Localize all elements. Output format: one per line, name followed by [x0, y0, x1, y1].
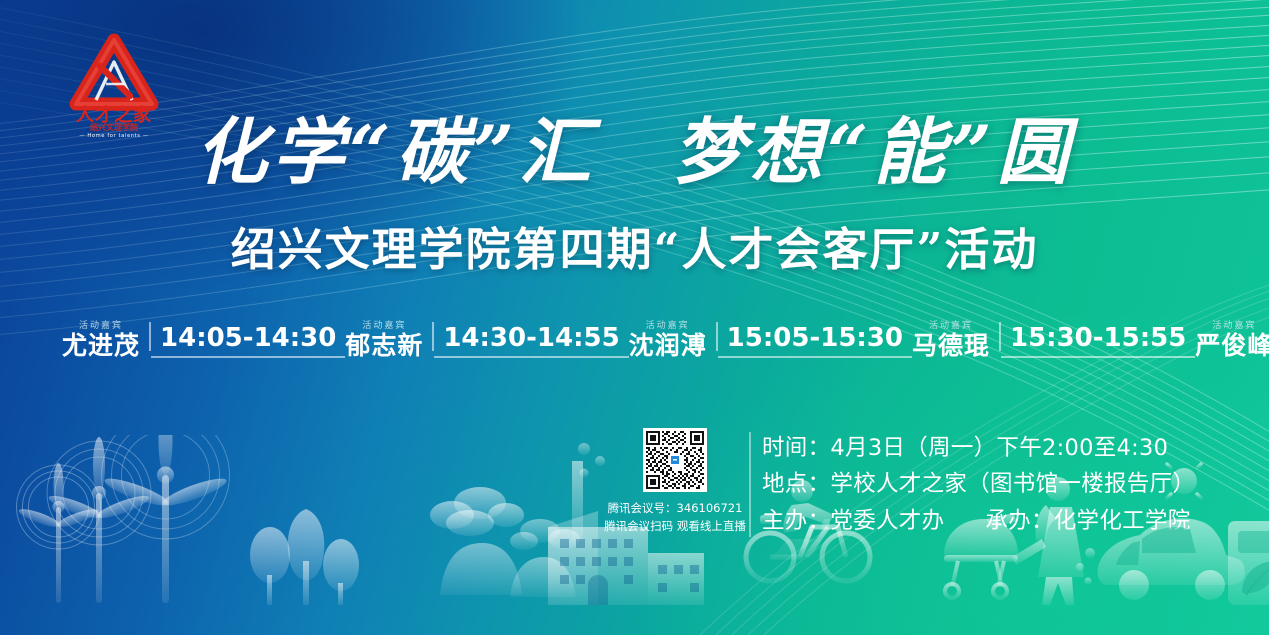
speaker-name-2: 郁志新 — [345, 333, 423, 358]
speaker-tag-1: 活动嘉宾 — [79, 318, 123, 331]
tree-icon — [288, 509, 325, 605]
smoke-cloud-icon — [430, 487, 524, 536]
hill-icon — [440, 543, 576, 597]
factory-window-grid — [560, 539, 699, 592]
speaker-name-4: 马德琨 — [912, 333, 990, 358]
speaker-slot-2[interactable]: 活动嘉宾 郁志新 14:30-14:55 — [345, 318, 628, 358]
info-place-line: 地点：学校人才之家（图书馆一楼报告厅） — [762, 466, 1195, 502]
info-host-line: 主办：党委人才办 承办：化学化工学院 — [762, 503, 1195, 539]
speaker-tag-2: 活动嘉宾 — [362, 318, 406, 331]
wind-turbine-icon — [102, 435, 230, 603]
speaker-name-1: 尤进茂 — [62, 333, 140, 358]
tree-icon — [250, 527, 290, 605]
exhaust-dot-icon — [1076, 548, 1095, 585]
smoke-cloud-icon — [510, 519, 580, 550]
qr-block: 腾讯会议号：346106721 腾讯会议扫码 观看线上直播 — [601, 428, 749, 536]
speaker-name-5: 严俊峰 — [1195, 333, 1269, 358]
info-divider — [749, 432, 751, 537]
triangle-mark-shape — [76, 40, 152, 104]
factory-door-icon — [588, 575, 608, 605]
speaker-time-wrap-3: 15:05-15:30 — [716, 325, 912, 358]
leaf-icon — [1242, 561, 1269, 595]
speaker-identity-4: 活动嘉宾 马德琨 — [912, 318, 999, 358]
speaker-time-2: 14:30-14:55 — [443, 325, 619, 351]
qr-code-icon[interactable] — [643, 428, 707, 492]
event-info-block: 时间：4月3日（周一）下午2:00至4:30 地点：学校人才之家（图书馆一楼报告… — [762, 430, 1195, 539]
speaker-slot-5[interactable]: 活动嘉宾 严俊峰 15:55-16:20 — [1195, 318, 1269, 358]
speaker-identity-5: 活动嘉宾 严俊峰 — [1195, 318, 1269, 358]
speaker-time-wrap-4: 15:30-15:55 — [999, 325, 1195, 358]
speaker-tag-5: 活动嘉宾 — [1212, 318, 1256, 331]
stroller-wheels-icon — [945, 561, 1007, 598]
speaker-tag-3: 活动嘉宾 — [646, 318, 690, 331]
info-time-line: 时间：4月3日（周一）下午2:00至4:30 — [762, 430, 1195, 466]
speaker-time-wrap-2: 14:30-14:55 — [432, 325, 628, 358]
info-host-label: 主办：党委人才办 — [762, 508, 944, 534]
speaker-name-3: 沈润溥 — [629, 333, 707, 358]
speaker-slot-4[interactable]: 活动嘉宾 马德琨 15:30-15:55 — [912, 318, 1195, 358]
wind-turbine-icon — [17, 463, 101, 603]
speaker-slot-3[interactable]: 活动嘉宾 沈润溥 15:05-15:30 — [629, 318, 912, 358]
tree-icon — [323, 539, 359, 605]
speaker-identity-2: 活动嘉宾 郁志新 — [345, 318, 432, 358]
speaker-schedule: 活动嘉宾 尤进茂 14:05-14:30 活动嘉宾 郁志新 14:30-14:5… — [62, 318, 1221, 358]
speaker-tag-4: 活动嘉宾 — [929, 318, 973, 331]
speaker-identity-1: 活动嘉宾 尤进茂 — [62, 318, 149, 358]
car-wheels-icon — [1119, 570, 1225, 600]
ev-charger-icon — [1228, 521, 1269, 605]
qr-meeting-number: 腾讯会议号：346106721 — [601, 500, 749, 518]
speaker-slot-1[interactable]: 活动嘉宾 尤进茂 14:05-14:30 — [62, 318, 345, 358]
speaker-time-1: 14:05-14:30 — [160, 325, 336, 351]
wind-turbine-icon — [47, 437, 152, 603]
page-title: 化学“碳”汇 梦想“能”圆 — [0, 112, 1269, 193]
speaker-time-4: 15:30-15:55 — [1010, 325, 1186, 351]
speaker-time-wrap-1: 14:05-14:30 — [149, 325, 345, 358]
info-organizer-label: 承办：化学化工学院 — [985, 508, 1190, 534]
page-subtitle: 绍兴文理学院第四期“人才会客厅”活动 — [0, 213, 1269, 278]
speaker-time-3: 15:05-15:30 — [727, 325, 903, 351]
speaker-identity-3: 活动嘉宾 沈润溥 — [629, 318, 716, 358]
poster-canvas: 人才之家 绍兴文理学院 — Home for talents — 化学“碳”汇 … — [0, 0, 1269, 635]
qr-scan-hint: 腾讯会议扫码 观看线上直播 — [601, 518, 749, 536]
